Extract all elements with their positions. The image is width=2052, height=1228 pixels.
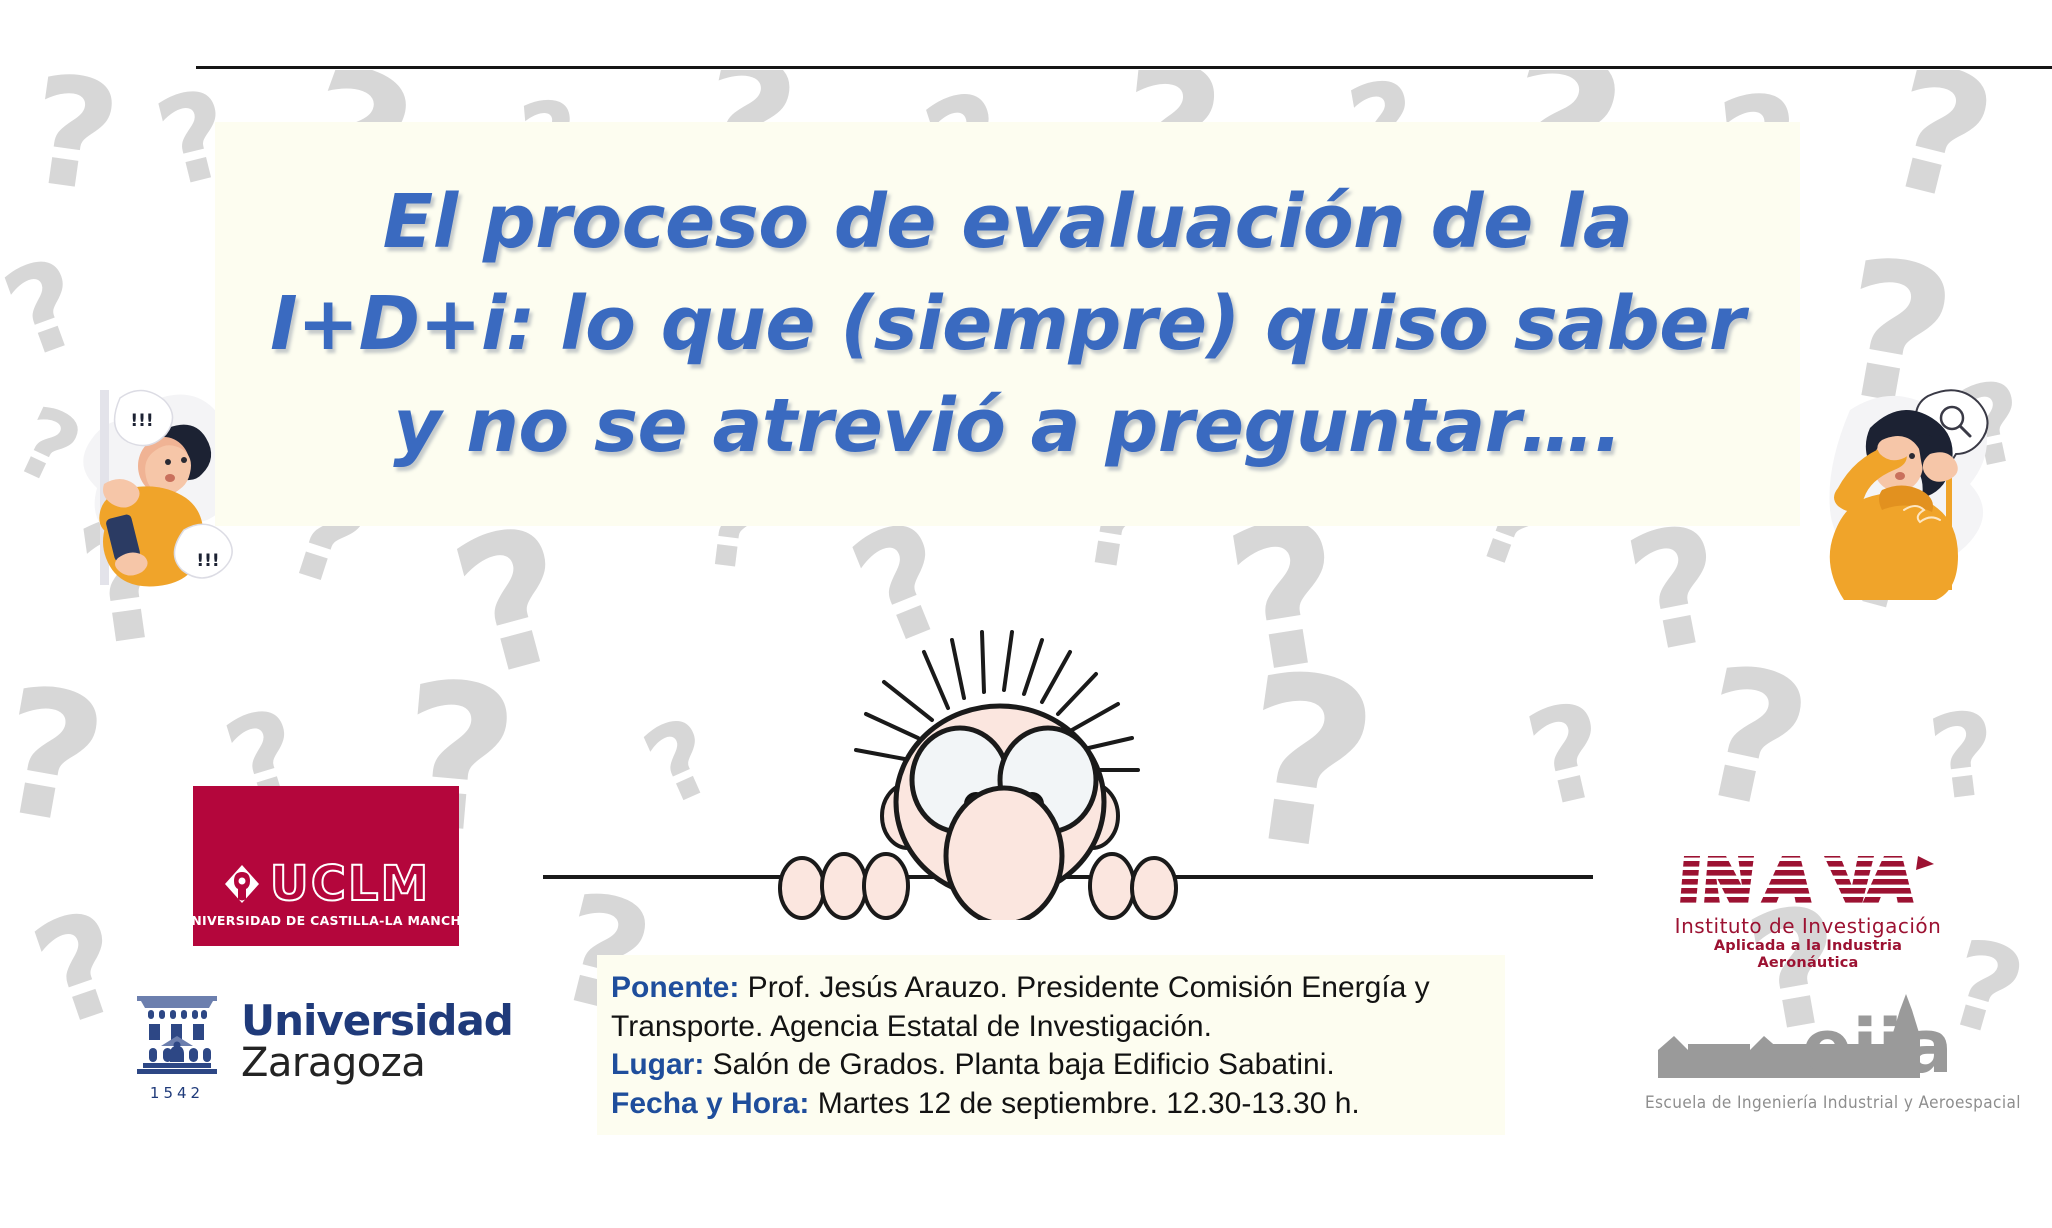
ponente-label: Ponente: <box>611 971 739 1004</box>
center-character-illustration <box>760 620 1180 920</box>
eiia-subtitle: Escuela de Ingeniería Industrial y Aeroe… <box>1645 1094 1955 1113</box>
logo-uclm: UCLM UNIVERSIDAD DE CASTILLA-LA MANCHA <box>193 786 459 946</box>
question-mark-glyph: ? <box>1516 683 1619 827</box>
logo-universidad-zaragoza: 1542 Universidad Zaragoza <box>131 990 531 1115</box>
center-character-svg <box>760 620 1180 920</box>
question-mark-glyph: ? <box>1923 696 2003 818</box>
question-mark-glyph: ? <box>1616 503 1738 678</box>
question-mark-glyph: ? <box>1682 641 1822 839</box>
question-mark-glyph: ? <box>0 663 116 853</box>
title-card: El proceso de evaluación de la I+D+i: lo… <box>215 122 1800 526</box>
poster-canvas: ? ? ? ? ? ? ? ? ? ? ? ? ? ? ? ? ? ? ? ? … <box>0 0 2052 1228</box>
top-divider-rule <box>196 66 2052 69</box>
info-line-ponente: Ponente: Prof. Jesús Arauzo. Presidente … <box>611 969 1505 1046</box>
right-character-illustration <box>1820 370 2025 605</box>
question-mark-glyph: ? <box>631 702 729 823</box>
unizar-wordmark-line2: Zaragoza <box>241 1043 513 1084</box>
title-line-1: El proceso de evaluación de la <box>383 171 1633 273</box>
title-line-2: I+D+i: lo que (siempre) quiso saber <box>270 273 1745 375</box>
question-mark-glyph: ? <box>438 499 590 705</box>
info-line-fecha: Fecha y Hora: Martes 12 de septiembre. 1… <box>611 1085 1505 1124</box>
question-mark-glyph: ? <box>0 242 98 379</box>
logo-inaia: Instituto de Investigación Aplicada a la… <box>1662 852 1954 964</box>
fecha-value: Martes 12 de septiembre. 12.30-13.30 h. <box>809 1087 1359 1120</box>
lugar-value: Salón de Grados. Planta baja Edificio Sa… <box>704 1048 1334 1081</box>
title-line-3: y no se atrevió a preguntar…. <box>393 375 1622 477</box>
info-line-lugar: Lugar: Salón de Grados. Planta baja Edif… <box>611 1046 1505 1085</box>
unizar-year: 1542 <box>131 1084 223 1102</box>
inaia-acronym-icon <box>1678 852 1938 908</box>
unizar-building-icon <box>131 990 223 1076</box>
inaia-subtitle-line1: Instituto de Investigación <box>1662 915 1954 938</box>
lugar-label: Lugar: <box>611 1048 704 1081</box>
uclm-letters: UCLM <box>270 860 431 908</box>
exclamation-text: !!! <box>130 411 153 431</box>
logo-eiia: eiia Escuela de Ingeniería Industrial y … <box>1645 992 1955 1122</box>
unizar-wordmark-line1: Universidad <box>241 1000 513 1043</box>
question-mark-glyph: ? <box>20 70 127 215</box>
uclm-subtitle: UNIVERSIDAD DE CASTILLA-LA MANCHA <box>181 913 471 928</box>
exclamation-text: !!! <box>196 551 219 571</box>
question-mark-glyph: ? <box>19 891 141 1050</box>
question-mark-glyph: ? <box>1225 642 1389 888</box>
eiia-skyline-icon: eiia <box>1652 992 1948 1088</box>
eiia-acronym-text: eiia <box>1802 1004 1948 1088</box>
right-character-svg <box>1820 370 2025 605</box>
question-mark-glyph: ? <box>1871 70 2008 229</box>
uclm-emblem-icon <box>222 862 262 906</box>
fecha-label: Fecha y Hora: <box>611 1087 809 1120</box>
event-info-card: Ponente: Prof. Jesús Arauzo. Presidente … <box>597 955 1505 1135</box>
inaia-subtitle-line2: Aplicada a la Industria Aeronáutica <box>1662 938 1954 971</box>
